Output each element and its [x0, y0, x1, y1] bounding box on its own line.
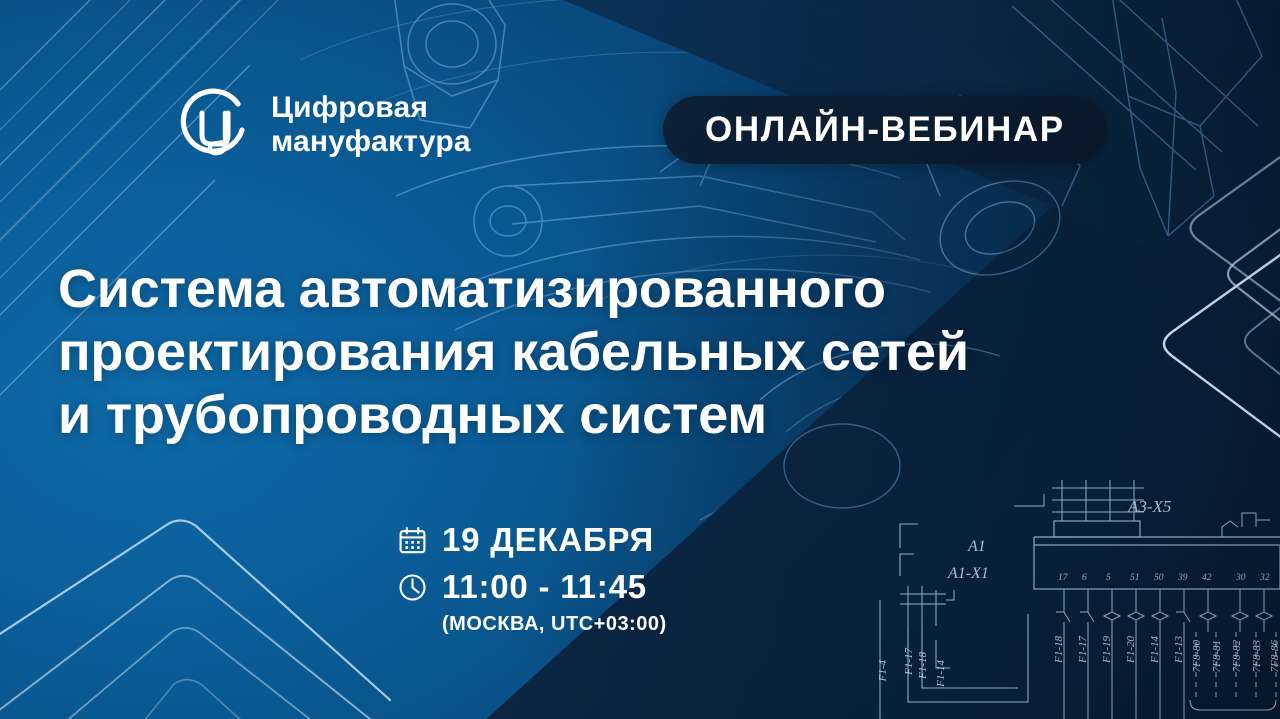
brand-logo: Цифровая мануфактура	[176, 86, 471, 164]
event-time-row: 11:00 - 11:45	[398, 568, 667, 606]
webinar-type-badge-label: ОНЛАЙН-ВЕБИНАР	[705, 110, 1065, 150]
page-title-line2: проектирования кабельных сетей	[58, 321, 1148, 384]
calendar-icon	[398, 526, 427, 555]
event-time: 11:00 - 11:45	[442, 568, 647, 606]
circle-monogram-icon	[176, 86, 254, 164]
event-details: 19 ДЕКАБРЯ 11:00 - 11:45 (МОСКВА, UTC+03…	[398, 521, 667, 636]
brand-name-line1: Цифровая	[271, 91, 428, 124]
page-title: Система автоматизированного проектирован…	[58, 258, 1148, 448]
event-timezone: (МОСКВА, UTC+03:00)	[442, 613, 667, 636]
webinar-type-badge: ОНЛАЙН-ВЕБИНАР	[663, 96, 1107, 164]
event-date-row: 19 ДЕКАБРЯ	[398, 521, 667, 559]
page-title-line3: и трубопроводных систем	[58, 384, 1148, 447]
brand-name: Цифровая мануфактура	[271, 91, 471, 158]
clock-icon	[398, 573, 427, 602]
webinar-banner: A3-X5 A1 A1-X1 176 551 5039 4230 32 F1-1…	[0, 0, 1280, 719]
event-date: 19 ДЕКАБРЯ	[442, 521, 654, 559]
page-title-line1: Система автоматизированного	[58, 258, 1148, 321]
brand-name-line2: мануфактура	[271, 125, 471, 158]
